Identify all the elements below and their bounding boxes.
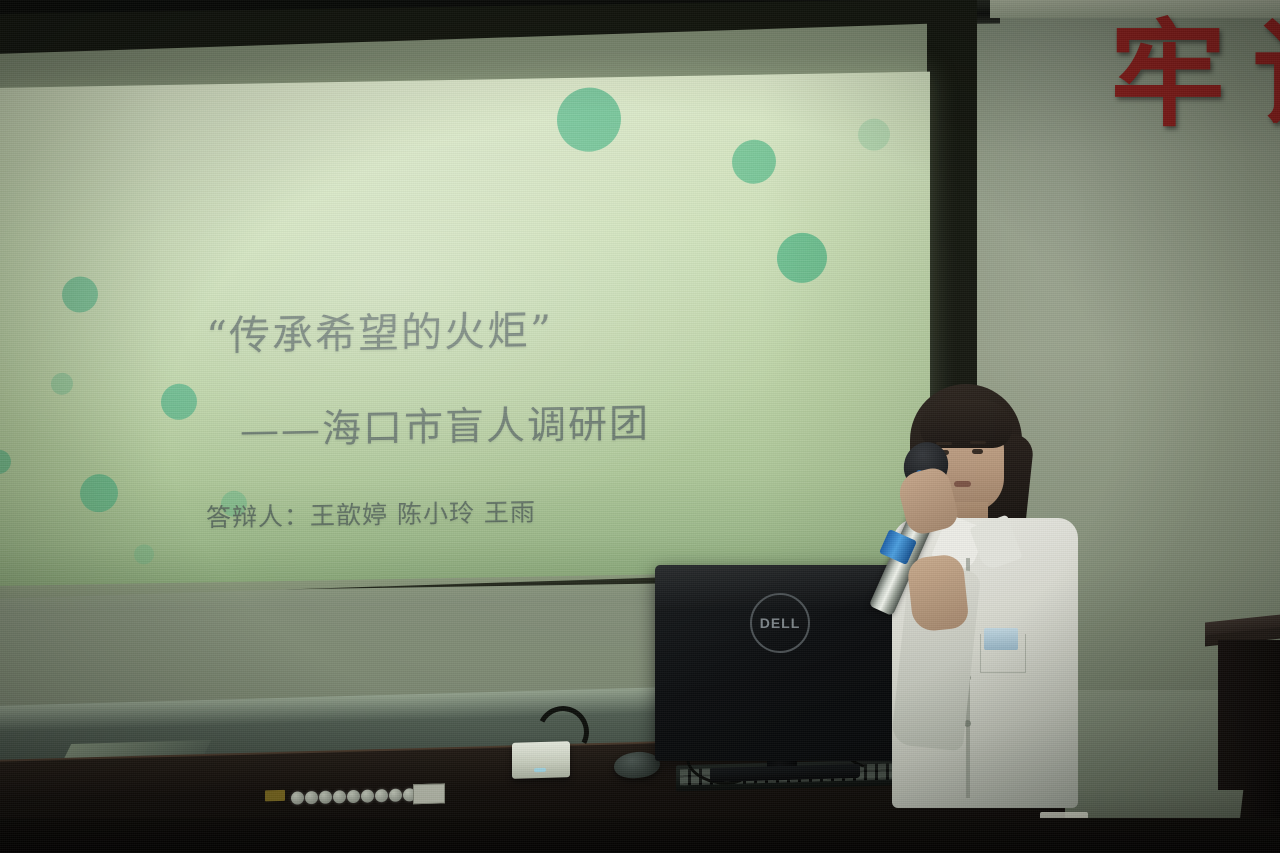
podium-body <box>1218 640 1280 790</box>
slide-dot-5 <box>62 276 98 313</box>
slide-dot-11 <box>134 544 154 564</box>
presentation-room-scene: “传承希望的火炬” ——海口市盲人调研团 答辩人：王歆婷 陈小玲 王雨 牢 记 <box>0 0 1280 853</box>
hand-lower <box>906 553 969 632</box>
slide-title: “传承希望的火炬” <box>206 296 553 362</box>
hair-fringe <box>920 400 1012 448</box>
control-button-6[interactable] <box>361 789 374 802</box>
slide-dot-6 <box>51 373 73 395</box>
slide-subtitle: ——海口市盲人调研团 <box>240 393 650 456</box>
presenter <box>880 378 1090 808</box>
control-button-8[interactable] <box>389 789 402 802</box>
control-button-3[interactable] <box>319 791 332 804</box>
control-button-5[interactable] <box>347 790 360 803</box>
control-button-2[interactable] <box>305 791 318 804</box>
wall-red-character-2: 记 <box>1252 18 1280 134</box>
slide-dot-4 <box>777 232 827 283</box>
dell-logo-icon: DELL <box>750 593 810 653</box>
network-box-led <box>534 768 546 772</box>
slide-dot-3 <box>858 118 890 151</box>
eye-right <box>972 449 983 454</box>
control-button-1[interactable] <box>291 791 304 804</box>
slide-presenters-line: 答辩人：王歆婷 陈小玲 王雨 <box>206 493 536 535</box>
slide-dot-2 <box>732 139 776 184</box>
slide-dot-1 <box>557 87 621 152</box>
av-control-panel[interactable] <box>265 782 440 813</box>
projected-slide: “传承希望的火炬” ——海口市盲人调研团 答辩人：王歆婷 陈小玲 王雨 <box>0 72 930 586</box>
name-badge <box>984 628 1018 650</box>
control-button-7[interactable] <box>375 789 388 802</box>
slide-dot-7 <box>161 383 197 420</box>
slide-dot-8 <box>0 450 11 474</box>
mouth <box>954 481 971 487</box>
control-button-4[interactable] <box>333 790 346 803</box>
floor-shadow <box>0 818 1280 853</box>
eyebrow-right <box>970 441 986 444</box>
power-led-indicator <box>265 790 285 802</box>
wall-red-character-1: 牢 <box>1110 18 1226 134</box>
network-box <box>512 741 570 779</box>
control-panel-label-tag <box>413 783 445 804</box>
slide-dot-9 <box>80 474 118 513</box>
